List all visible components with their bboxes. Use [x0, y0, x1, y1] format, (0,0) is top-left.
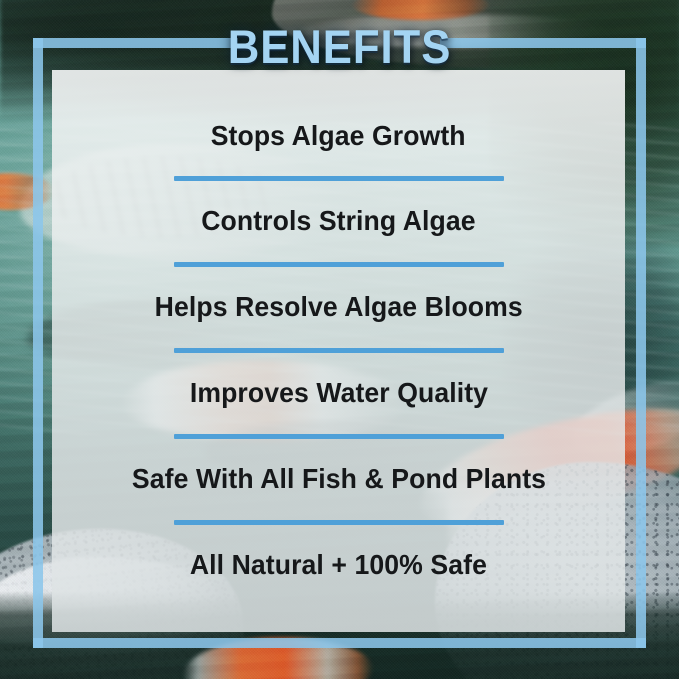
- benefit-label: Improves Water Quality: [189, 364, 487, 424]
- list-item: Safe With All Fish & Pond Plants: [52, 450, 625, 536]
- benefit-divider: [174, 176, 504, 181]
- benefits-panel: Stops Algae Growth Controls String Algae…: [52, 70, 625, 632]
- list-item: Stops Algae Growth: [52, 107, 625, 193]
- benefit-label: All Natural + 100% Safe: [190, 536, 487, 596]
- benefit-divider: [174, 262, 504, 267]
- infographic-canvas: BENEFITS Stops Algae Growth Controls Str…: [0, 0, 679, 679]
- benefit-label: Controls String Algae: [201, 192, 475, 252]
- list-item: All Natural + 100% Safe: [52, 536, 625, 596]
- list-item: Controls String Algae: [52, 192, 625, 278]
- benefit-label: Helps Resolve Algae Blooms: [154, 278, 522, 338]
- list-item: Improves Water Quality: [52, 364, 625, 450]
- page-title: BENEFITS: [24, 19, 655, 74]
- list-item: Helps Resolve Algae Blooms: [52, 278, 625, 364]
- benefit-divider: [174, 434, 504, 439]
- benefits-list: Stops Algae Growth Controls String Algae…: [52, 107, 625, 596]
- benefit-divider: [174, 520, 504, 525]
- benefit-label: Safe With All Fish & Pond Plants: [131, 450, 545, 510]
- benefit-label: Stops Algae Growth: [211, 107, 466, 167]
- benefit-divider: [174, 348, 504, 353]
